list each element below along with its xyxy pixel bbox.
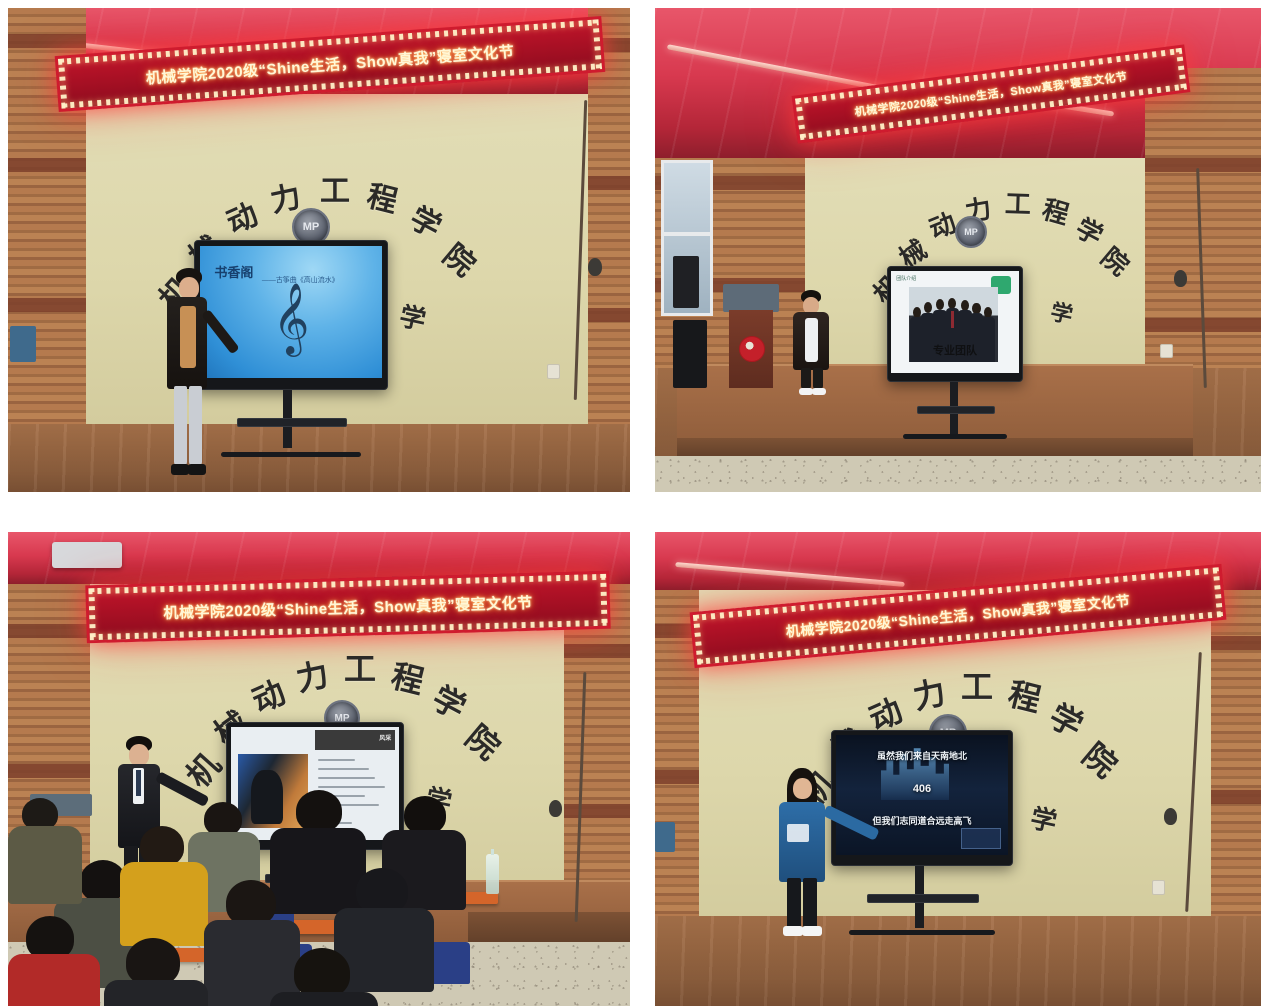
presenter-photo-1 [156, 268, 222, 490]
slide-line-top: 虽然我们来自天南地北 [836, 749, 1007, 762]
presenter-photo-2 [785, 290, 839, 394]
projector [52, 542, 122, 568]
photo-top-right[interactable]: 机械学院2020级“Shine生活，Show真我”寝室文化节 机 械 动 力 工… [655, 8, 1261, 492]
display-stand-shelf [237, 418, 348, 427]
slide-header: 团队介绍 [896, 275, 916, 282]
interactive-display[interactable]: 团队介绍 [887, 266, 1023, 382]
audience-head [404, 796, 446, 834]
audience-body [270, 992, 378, 1006]
audience-head [140, 826, 184, 866]
grid-cell-top-right: 机械学院2020级“Shine生活，Show真我”寝室文化节 机 械 动 力 工… [638, 0, 1269, 510]
wood-panel-right [588, 8, 630, 492]
slide-corner-box [961, 828, 1001, 849]
audience-body [8, 954, 100, 1006]
treble-clef-icon: 𝄞 [273, 288, 310, 350]
power-outlet [1160, 344, 1173, 358]
presenter-photo-4 [771, 768, 867, 944]
floor-terrazzo [655, 456, 1261, 492]
college-emblem-icon: MP [955, 216, 987, 248]
power-outlet [547, 364, 560, 379]
water-bottle [486, 854, 499, 894]
speaker-box [673, 320, 707, 388]
display-stand-shelf [867, 894, 978, 903]
grid-cell-bottom-left: 机械学院2020级“Shine生活，Show真我”寝室文化节 机 械 动 力 工… [0, 510, 638, 1006]
grid-cell-top-left: 机械学院2020级“Shine生活，Show真我”寝室文化节 机 械 动 力 工… [0, 0, 638, 510]
audience [8, 788, 630, 1006]
slide-caption: 专业团队 [891, 342, 1019, 358]
audience-head [204, 802, 242, 836]
power-outlet [1152, 880, 1165, 895]
interactive-display[interactable]: 书香阁 ——古筝曲《高山流水》 𝄞 [194, 240, 388, 390]
podium [723, 284, 779, 388]
wood-panel-right [1211, 590, 1261, 930]
blue-plaque [10, 326, 36, 362]
audience-head [296, 790, 342, 832]
photo-collage-page: 机械学院2020级“Shine生活，Show真我”寝室文化节 机 械 动 力 工… [0, 0, 1269, 1006]
wall-speaker-icon [1174, 270, 1187, 287]
display-screen: 书香阁 ——古筝曲《高山流水》 𝄞 [200, 246, 382, 378]
blue-hoodie [779, 802, 825, 882]
photo-bottom-left[interactable]: 机械学院2020级“Shine生活，Show真我”寝室文化节 机 械 动 力 工… [8, 532, 630, 1006]
hoodie-print [787, 824, 809, 842]
audience-head [294, 948, 350, 998]
slide-header-bar: 风采 [315, 730, 395, 749]
podium-seal-icon [739, 336, 765, 362]
photo-bottom-right[interactable]: 机械学院2020级“Shine生活，Show真我”寝室文化节 机 械 动 力 工… [655, 532, 1261, 1006]
audience-head [126, 938, 180, 986]
display-stand-foot [849, 930, 995, 935]
wall-speaker-icon [588, 258, 602, 276]
audience-body [270, 828, 366, 914]
wall-speaker-icon [1164, 808, 1177, 825]
display-stand-foot [221, 452, 361, 457]
emblem-text: MP [303, 221, 320, 233]
display-screen: 团队介绍 [891, 271, 1019, 373]
photo-grid: 机械学院2020级“Shine生活，Show真我”寝室文化节 机 械 动 力 工… [0, 0, 1269, 1006]
audience-body [104, 980, 208, 1006]
slide-header-label: 风采 [379, 733, 391, 742]
stage-floor [8, 424, 630, 492]
audience-body [120, 862, 208, 946]
display-stand-shelf [917, 406, 995, 414]
photo-top-left[interactable]: 机械学院2020级“Shine生活，Show真我”寝室文化节 机 械 动 力 工… [8, 8, 630, 492]
blue-plaque [655, 822, 675, 852]
display-stand-foot [903, 434, 1006, 439]
speaker-box [673, 256, 699, 308]
audience-body [8, 826, 82, 904]
emblem-text: MP [964, 227, 978, 237]
grid-cell-bottom-right: 机械学院2020级“Shine生活，Show真我”寝室文化节 机 械 动 力 工… [638, 510, 1269, 1006]
